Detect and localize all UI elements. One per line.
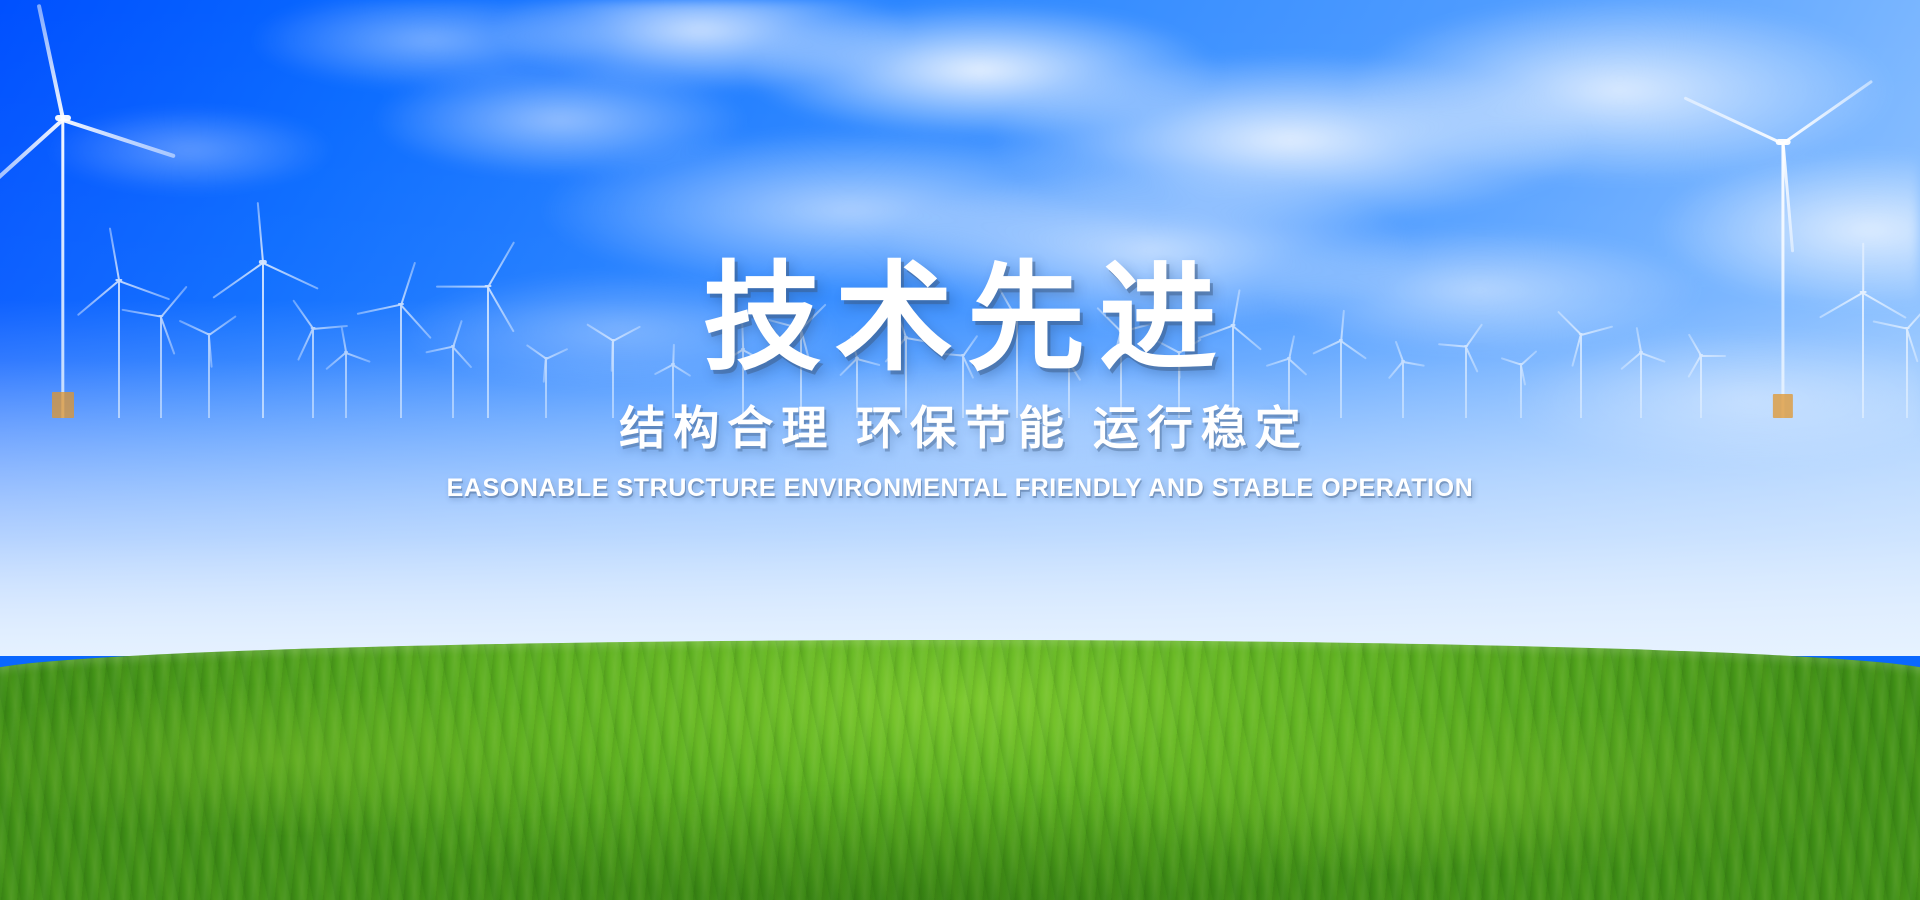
turbine-blade: [0, 118, 64, 200]
grass-sheen: [0, 640, 1920, 900]
turbine-blade: [1782, 80, 1873, 145]
hero-banner: 技术先进 结构合理 环保节能 运行稳定 EASONABLE STRUCTURE …: [0, 0, 1920, 900]
turbine-blade: [62, 118, 175, 158]
turbine-blade: [257, 202, 264, 263]
turbine-blade: [37, 4, 65, 120]
banner-english-tagline: EASONABLE STRUCTURE ENVIRONMENTAL FRIEND…: [0, 474, 1920, 503]
banner-subtitle: 结构合理 环保节能 运行稳定: [0, 401, 1920, 456]
turbine-blade: [1684, 96, 1784, 145]
banner-title: 技术先进: [0, 258, 1920, 381]
hero-text-block: 技术先进 结构合理 环保节能 运行稳定 EASONABLE STRUCTURE …: [0, 258, 1920, 503]
grass-field: [0, 640, 1920, 900]
